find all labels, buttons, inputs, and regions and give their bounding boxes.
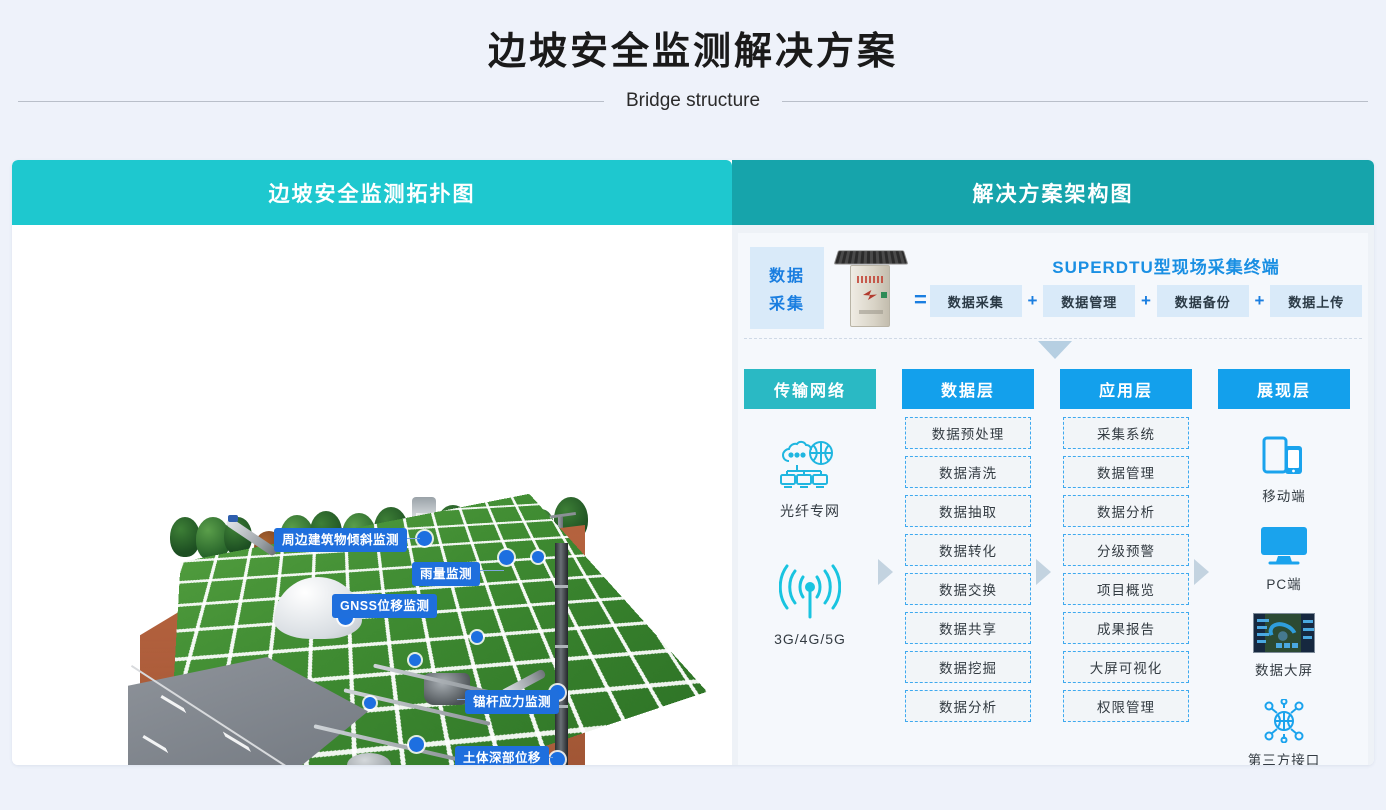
- thumb-bar: [1303, 620, 1313, 623]
- data-item[interactable]: 数据共享: [905, 612, 1031, 644]
- column-gap: [876, 369, 902, 765]
- data-item[interactable]: 数据预处理: [905, 417, 1031, 449]
- dtu-device-icon: [840, 249, 902, 333]
- application-item[interactable]: 数据分析: [1063, 495, 1189, 527]
- acquisition-badge: 数据 采集: [750, 247, 824, 329]
- cabinet-led: [881, 292, 887, 298]
- application-item[interactable]: 成果报告: [1063, 612, 1189, 644]
- subtitle-divider-right: [782, 101, 1368, 102]
- application-item[interactable]: 项目概览: [1063, 573, 1189, 605]
- display-item: 移动端: [1260, 435, 1308, 505]
- tab-bar: 边坡安全监测拓扑图 解决方案架构图: [12, 160, 1374, 225]
- display-label: PC端: [1266, 573, 1301, 593]
- column-transmission: 传输网络: [744, 369, 876, 765]
- tab-topology[interactable]: 边坡安全监测拓扑图: [12, 160, 732, 225]
- acquisition-band: 数据 采集 = SUPERDTU型现场采集终端: [744, 239, 1362, 339]
- inclinometer-casing: [555, 543, 568, 765]
- subtitle-divider-left: [18, 101, 604, 102]
- casing-segment: [555, 585, 568, 588]
- mobile-tablet-icon: [1260, 435, 1308, 479]
- acquisition-badge-line1: 数据: [769, 262, 805, 286]
- tab-architecture[interactable]: 解决方案架构图: [732, 160, 1374, 225]
- display-layer-items: 移动端 PC端: [1218, 409, 1350, 765]
- application-item[interactable]: 采集系统: [1063, 417, 1189, 449]
- flow-right-arrow-icon: [1036, 559, 1051, 585]
- column-gap: [1034, 369, 1060, 765]
- column-header-display: 展现层: [1218, 369, 1350, 409]
- thumb-bar: [1276, 643, 1282, 648]
- display-label: 数据大屏: [1255, 659, 1313, 679]
- display-label: 第三方接口: [1248, 749, 1321, 765]
- subtitle-row: Bridge structure: [0, 90, 1386, 112]
- thumb-bar: [1303, 636, 1312, 639]
- slope-illustration: 周边建筑物倾斜监测 雨量监测 GNSS位移监测 锚杆应力监测 土体深部位移 土体…: [12, 225, 732, 765]
- panes: 周边建筑物倾斜监测 雨量监测 GNSS位移监测 锚杆应力监测 土体深部位移 土体…: [12, 225, 1374, 765]
- column-gap: [1192, 369, 1218, 765]
- data-item[interactable]: 数据清洗: [905, 456, 1031, 488]
- architecture-pane: 数据 采集 = SUPERDTU型现场采集终端: [732, 225, 1374, 765]
- plus-sign: +: [1028, 291, 1038, 311]
- sensor-dot: [471, 631, 483, 643]
- transmission-item: 3G/4G/5G: [774, 563, 846, 647]
- application-item[interactable]: 大屏可视化: [1063, 651, 1189, 683]
- data-item[interactable]: 数据转化: [905, 534, 1031, 566]
- architecture-diagram: 数据 采集 = SUPERDTU型现场采集终端: [738, 233, 1368, 765]
- column-header-transmission: 传输网络: [744, 369, 876, 409]
- thumb-bar: [1284, 643, 1290, 648]
- thumb-bar: [1303, 628, 1314, 631]
- application-item[interactable]: 数据管理: [1063, 456, 1189, 488]
- dtu-cabinet: [850, 265, 890, 327]
- acquisition-badge-line2: 采集: [769, 290, 805, 314]
- leader-line: [478, 570, 504, 571]
- layer-columns: 传输网络: [744, 369, 1362, 765]
- solar-panel-icon: [834, 250, 909, 264]
- sensor-dot: [499, 550, 514, 565]
- thumb-bar: [1257, 619, 1269, 622]
- sensor-dot: [550, 752, 565, 765]
- display-item: 第三方接口: [1248, 699, 1321, 765]
- display-item: 数据大屏: [1253, 613, 1315, 679]
- cabinet-logo: [857, 276, 885, 283]
- transmission-items: 光纤专网: [744, 409, 876, 647]
- transmission-label: 3G/4G/5G: [774, 631, 846, 647]
- column-header-application: 应用层: [1060, 369, 1192, 409]
- plus-sign: +: [1141, 291, 1151, 311]
- data-item[interactable]: 数据抽取: [905, 495, 1031, 527]
- display-item: PC端: [1258, 525, 1310, 593]
- application-item[interactable]: 分级预警: [1063, 534, 1189, 566]
- transmission-item: 光纤专网: [779, 439, 841, 521]
- wifi-signal-icon: [779, 563, 841, 621]
- thumb-bar: [1257, 626, 1267, 629]
- casing-segment: [555, 645, 568, 648]
- column-data-layer: 数据层 数据预处理 数据清洗 数据抽取 数据转化 数据交换 数据共享 数据挖掘 …: [902, 369, 1034, 765]
- dtu-chip: 数据管理: [1043, 285, 1135, 317]
- sky-backdrop: [132, 265, 592, 435]
- dtu-chip: 数据备份: [1157, 285, 1249, 317]
- display-label: 移动端: [1262, 485, 1306, 505]
- cabinet-mark: [863, 290, 877, 300]
- monitor-icon: [1258, 525, 1310, 567]
- label-rainfall: 雨量监测: [412, 562, 480, 586]
- flow-down-arrow-icon: [1038, 341, 1072, 359]
- data-item[interactable]: 数据分析: [905, 690, 1031, 722]
- content-panel: 边坡安全监测拓扑图 解决方案架构图: [12, 160, 1374, 765]
- thumb-bar: [1292, 643, 1298, 648]
- application-item[interactable]: 权限管理: [1063, 690, 1189, 722]
- data-item[interactable]: 数据挖掘: [905, 651, 1031, 683]
- sensor-dot: [532, 551, 544, 563]
- sensor-dot: [409, 737, 424, 752]
- data-layer-items: 数据预处理 数据清洗 数据抽取 数据转化 数据交换 数据共享 数据挖掘 数据分析: [902, 409, 1034, 722]
- application-layer-items: 采集系统 数据管理 数据分析 分级预警 项目概览 成果报告 大屏可视化 权限管理: [1060, 409, 1192, 722]
- column-application-layer: 应用层 采集系统 数据管理 数据分析 分级预警 项目概览 成果报告 大屏可视化 …: [1060, 369, 1192, 765]
- sensor-dot: [364, 697, 376, 709]
- column-display-layer: 展现层 移动端: [1218, 369, 1350, 765]
- thumb-bar: [1257, 640, 1266, 643]
- column-header-data: 数据层: [902, 369, 1034, 409]
- sensor-dot: [409, 654, 421, 666]
- plus-sign: +: [1255, 291, 1265, 311]
- page-subtitle: Bridge structure: [604, 90, 782, 112]
- transmission-label: 光纤专网: [780, 501, 840, 521]
- flow-right-arrow-icon: [878, 559, 893, 585]
- label-anchor-stress: 锚杆应力监测: [465, 690, 559, 714]
- dtu-chip-row: 数据采集 + 数据管理 + 数据备份 + 数据上传: [930, 285, 1362, 317]
- thumb-bar: [1257, 633, 1269, 636]
- page-title: 边坡安全监测解决方案: [0, 26, 1386, 78]
- label-building-tilt: 周边建筑物倾斜监测: [274, 528, 407, 552]
- probe-tip: [228, 515, 238, 522]
- dtu-chip: 数据上传: [1270, 285, 1362, 317]
- data-item[interactable]: 数据交换: [905, 573, 1031, 605]
- label-gnss-displacement: GNSS位移监测: [332, 594, 437, 618]
- cabinet-label: [859, 310, 883, 314]
- flow-right-arrow-icon: [1194, 559, 1209, 585]
- api-node-icon: [1260, 699, 1308, 743]
- equals-sign: =: [914, 287, 927, 313]
- label-deep-displacement: 土体深部位移: [455, 746, 549, 765]
- topology-pane: 周边建筑物倾斜监测 雨量监测 GNSS位移监测 锚杆应力监测 土体深部位移 土体…: [12, 225, 732, 765]
- dtu-chip: 数据采集: [930, 285, 1022, 317]
- cloud-network-icon: [779, 439, 841, 491]
- page-header: 边坡安全监测解决方案 Bridge structure: [0, 0, 1386, 112]
- dtu-title: SUPERDTU型现场采集终端: [976, 253, 1356, 278]
- dashboard-screen-icon: [1253, 613, 1315, 653]
